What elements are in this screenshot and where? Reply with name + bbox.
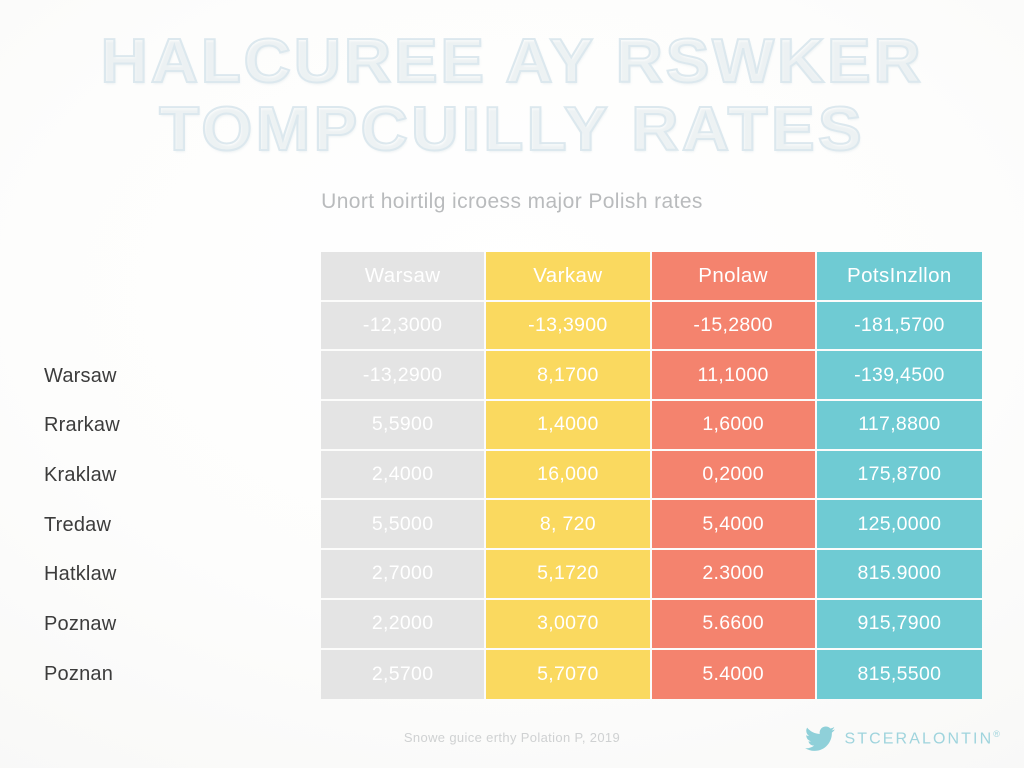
brand-name-text: STCERALONTIN [844, 731, 993, 748]
title-line-2: TOMPCUILLY RATES [0, 96, 1024, 164]
table-cell: 815.9000 [817, 550, 982, 600]
table-cell: 5.6600 [652, 600, 817, 650]
row-label-5: Hatklaw [44, 550, 321, 600]
brand-name: STCERALONTIN® [844, 729, 1002, 748]
table-cell: 117,8800 [817, 401, 982, 451]
table-cell: 2,5700 [321, 650, 486, 700]
title-line-1: HALCUREE AY RSWKER [0, 28, 1024, 96]
table-cell: 815,5500 [817, 650, 982, 700]
row-label-header-spacer [44, 252, 321, 302]
row-label-6: Poznaw [44, 600, 321, 650]
table-cell: -181,5700 [817, 302, 982, 352]
table-cell: 5,5900 [321, 401, 486, 451]
row-label-4: Tredaw [44, 500, 321, 550]
page-subtitle: Unort hoirtilg icroess major Polish rate… [0, 190, 1024, 214]
table-cell: -13,2900 [321, 351, 486, 401]
table-cell: 915,7900 [817, 600, 982, 650]
table-cell: 1,6000 [652, 401, 817, 451]
row-label-0 [44, 302, 321, 352]
table-cell: 2,4000 [321, 451, 486, 501]
table-cell: 11,1000 [652, 351, 817, 401]
column-header-0[interactable]: Warsaw [321, 252, 486, 302]
row-label-3: Kraklaw [44, 451, 321, 501]
column-header-2[interactable]: Pnolaw [652, 252, 817, 302]
table-cell: 175,8700 [817, 451, 982, 501]
table-cell: -13,3900 [486, 302, 651, 352]
table-cell: 5,4000 [652, 500, 817, 550]
table-cell: 2.3000 [652, 550, 817, 600]
table-cell: 5,1720 [486, 550, 651, 600]
column-header-1[interactable]: Varkaw [486, 252, 651, 302]
table-cell: 1,4000 [486, 401, 651, 451]
column-header-3[interactable]: PotsInzllon [817, 252, 982, 302]
brand-logo: STCERALONTIN® [805, 726, 1002, 752]
table-cell: 2,7000 [321, 550, 486, 600]
table-cell: 3,0070 [486, 600, 651, 650]
rates-table: WarsawVarkawPnolawPotsInzllon-12,3000-13… [44, 252, 982, 700]
table-grid: WarsawVarkawPnolawPotsInzllon-12,3000-13… [44, 252, 982, 699]
table-cell: 5,7070 [486, 650, 651, 700]
table-cell: -139,4500 [817, 351, 982, 401]
table-cell: 0,2000 [652, 451, 817, 501]
page-title: HALCUREE AY RSWKER TOMPCUILLY RATES [0, 28, 1024, 164]
row-label-7: Poznan [44, 650, 321, 700]
table-cell: 8, 720 [486, 500, 651, 550]
table-cell: 16,000 [486, 451, 651, 501]
table-cell: 125,0000 [817, 500, 982, 550]
twitter-bird-icon [805, 726, 835, 752]
row-label-2: Rrarkaw [44, 401, 321, 451]
table-cell: -12,3000 [321, 302, 486, 352]
row-label-1: Warsaw [44, 351, 321, 401]
table-cell: -15,2800 [652, 302, 817, 352]
table-cell: 2,2000 [321, 600, 486, 650]
table-cell: 5,5000 [321, 500, 486, 550]
table-cell: 8,1700 [486, 351, 651, 401]
table-cell: 5.4000 [652, 650, 817, 700]
brand-registered-mark: ® [993, 729, 1002, 739]
infographic-canvas: HALCUREE AY RSWKER TOMPCUILLY RATES Unor… [0, 0, 1024, 768]
